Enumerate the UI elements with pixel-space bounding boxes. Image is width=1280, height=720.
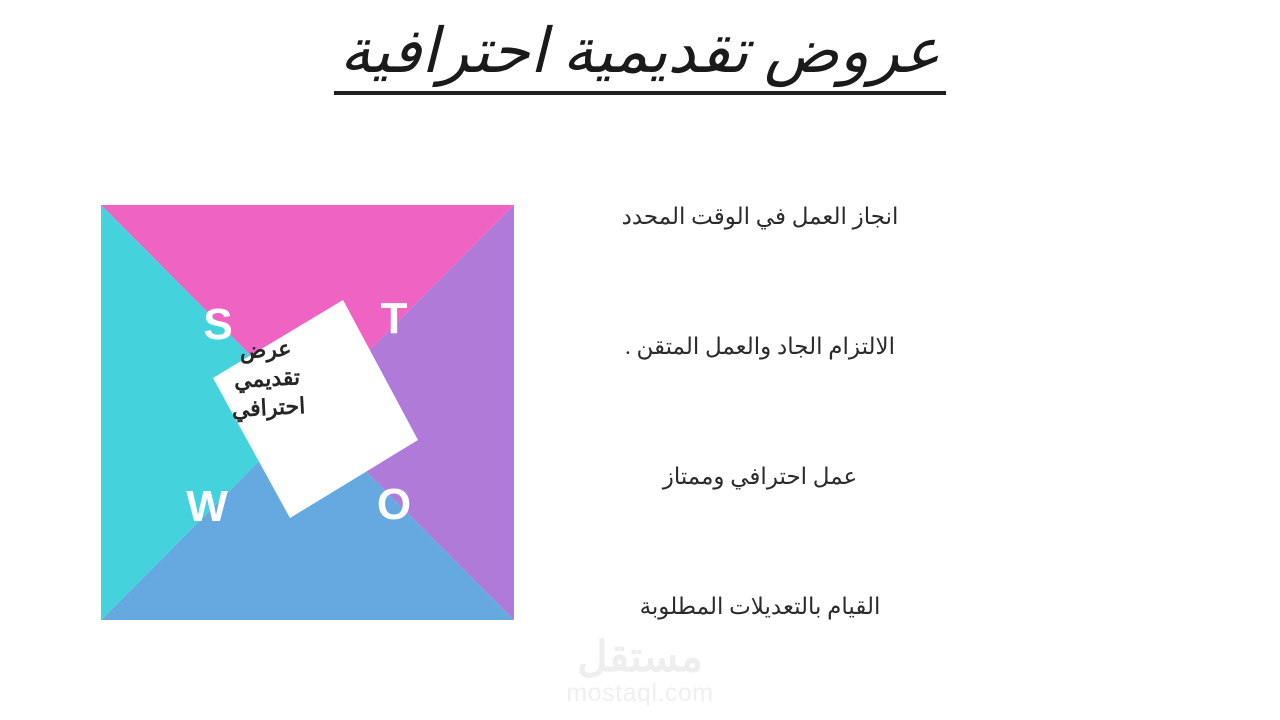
list-item: انجاز العمل في الوقت المحدد (560, 200, 960, 330)
watermark-domain: mostaql.com (0, 681, 1280, 706)
page-title: عروض تقديمية احترافية (334, 18, 947, 95)
list-item: القيام بالتعديلات المطلوبة (560, 590, 960, 625)
list-item: عمل احترافي وممتاز (560, 460, 960, 590)
swot-letter-w: W (182, 485, 232, 529)
swot-letter-o: O (369, 483, 419, 527)
service-points-list: انجاز العمل في الوقت المحدد الالتزام الج… (560, 200, 960, 625)
presentation-slide: عروض تقديمية احترافية S T W O عرض تقديمي… (0, 0, 1280, 720)
watermark-arabic-logo: مستقل (0, 636, 1280, 678)
list-item: الالتزام الجاد والعمل المتقن . (560, 330, 960, 460)
swot-letter-t: T (369, 297, 419, 341)
swot-center-label: عرض تقديمي احترافي (205, 332, 329, 425)
page-title-container: عروض تقديمية احترافية (0, 18, 1280, 95)
watermark: مستقل mostaql.com (0, 636, 1280, 706)
